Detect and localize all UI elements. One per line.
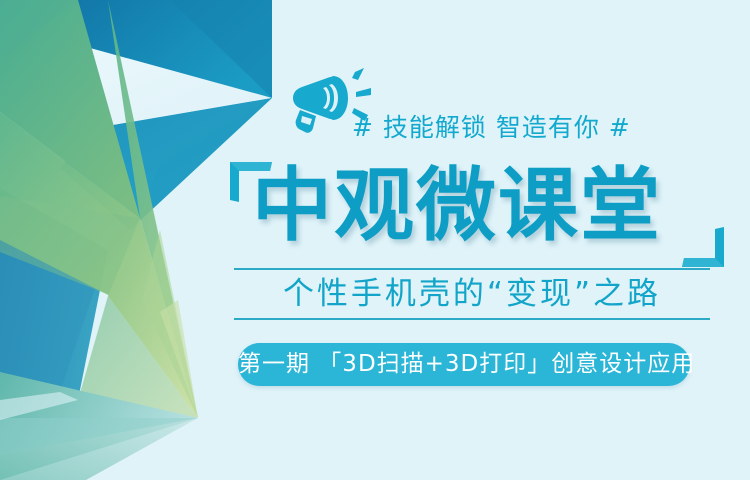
course-promo-banner: # 技能解锁 智造有你 # 中观微课堂 个性手机壳的“变现”之路 (0, 0, 750, 480)
subtitle-text: 个性手机壳的“变现”之路 (234, 270, 710, 318)
page-title: 中观微课堂 (252, 157, 662, 255)
episode-badge: 第一期 「3D扫描+3D打印」创意设计应用 (238, 343, 690, 386)
corner-bracket-close-icon (680, 225, 726, 269)
subtitle-rule-bottom (234, 318, 710, 320)
subtitle-block: 个性手机壳的“变现”之路 (234, 268, 710, 322)
tagline-text: # 技能解锁 智造有你 # (352, 113, 631, 143)
title-block: 中观微课堂 (228, 157, 708, 257)
